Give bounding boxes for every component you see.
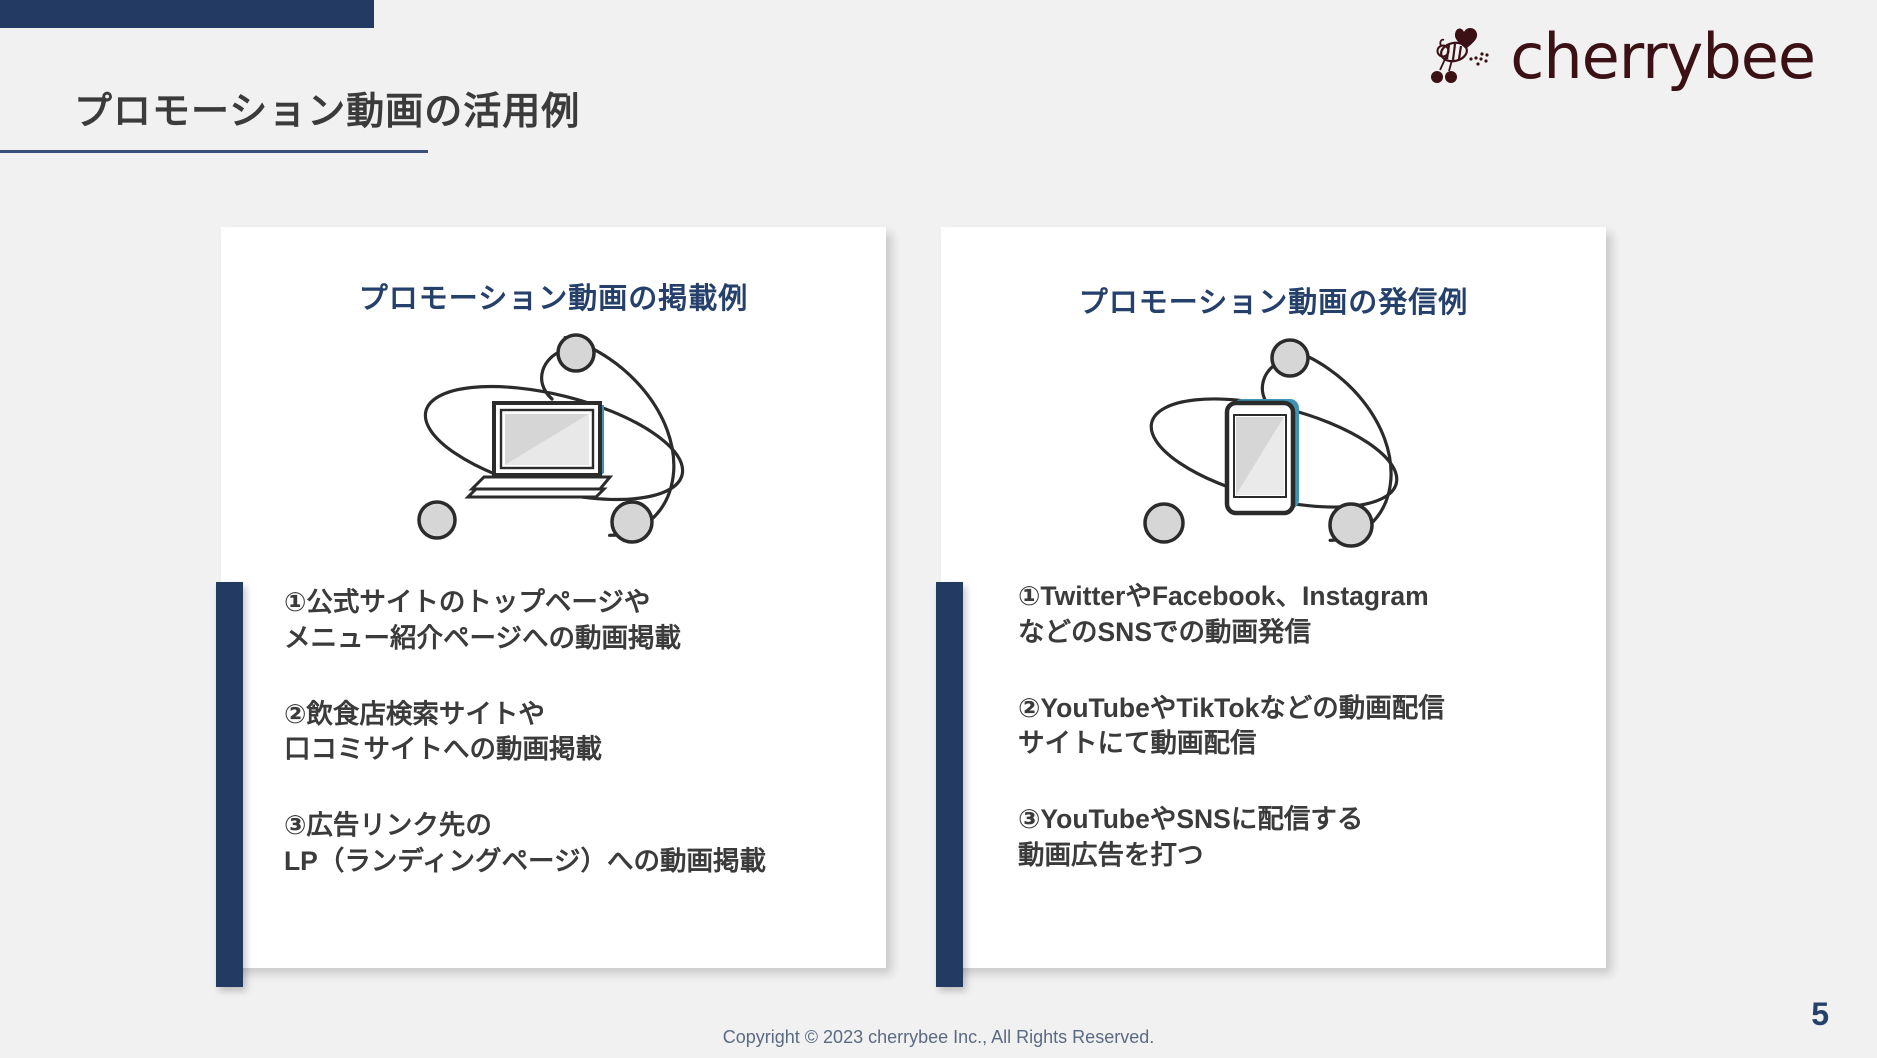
list-item: ②YouTubeやTikTokなどの動画配信 サイトにて動画配信 bbox=[1018, 691, 1598, 763]
bee-cherry-icon bbox=[1424, 26, 1502, 88]
card-left-bullet-list: ①公式サイトのトップページや メニュー紹介ページへの動画掲載 ②飲食店検索サイト… bbox=[284, 585, 864, 880]
card-right-heading: プロモーション動画の発信例 bbox=[941, 279, 1606, 321]
tablet-icon bbox=[1129, 325, 1419, 555]
card-right-accent-bar bbox=[936, 582, 963, 987]
list-item: ①TwitterやFacebook、Instagram などのSNSでの動画発信 bbox=[1018, 579, 1598, 651]
card-left-accent-bar bbox=[216, 582, 243, 987]
tablet-orbit-illustration bbox=[941, 325, 1606, 555]
card-left-heading: プロモーション動画の掲載例 bbox=[221, 275, 886, 317]
cherrybee-logo: cherrybee bbox=[1424, 26, 1815, 88]
list-item: ①公式サイトのトップページや メニュー紹介ページへの動画掲載 bbox=[284, 585, 864, 657]
card-right-bullet-list: ①TwitterやFacebook、Instagram などのSNSでの動画発信… bbox=[1018, 579, 1598, 874]
title-underline bbox=[0, 150, 428, 153]
slide-canvas: プロモーション動画の活用例 bbox=[0, 0, 1877, 1058]
page-number: 5 bbox=[1811, 996, 1829, 1033]
top-accent-bar bbox=[0, 0, 374, 28]
list-item: ③広告リンク先の LP（ランディングページ）への動画掲載 bbox=[284, 808, 864, 880]
page-title: プロモーション動画の活用例 bbox=[74, 80, 580, 135]
list-item: ②飲食店検索サイトや 口コミサイトへの動画掲載 bbox=[284, 697, 864, 769]
logo-wordmark: cherrybee bbox=[1510, 28, 1815, 87]
footer-copyright: Copyright © 2023 cherrybee Inc., All Rig… bbox=[0, 1027, 1877, 1048]
laptop-icon bbox=[404, 319, 704, 549]
card-promotion-placement: プロモーション動画の掲載例 bbox=[221, 227, 886, 968]
laptop-orbit-illustration bbox=[221, 319, 886, 549]
list-item: ③YouTubeやSNSに配信する 動画広告を打つ bbox=[1018, 802, 1598, 874]
card-promotion-distribution: プロモーション動画の発信例 bbox=[941, 227, 1606, 968]
